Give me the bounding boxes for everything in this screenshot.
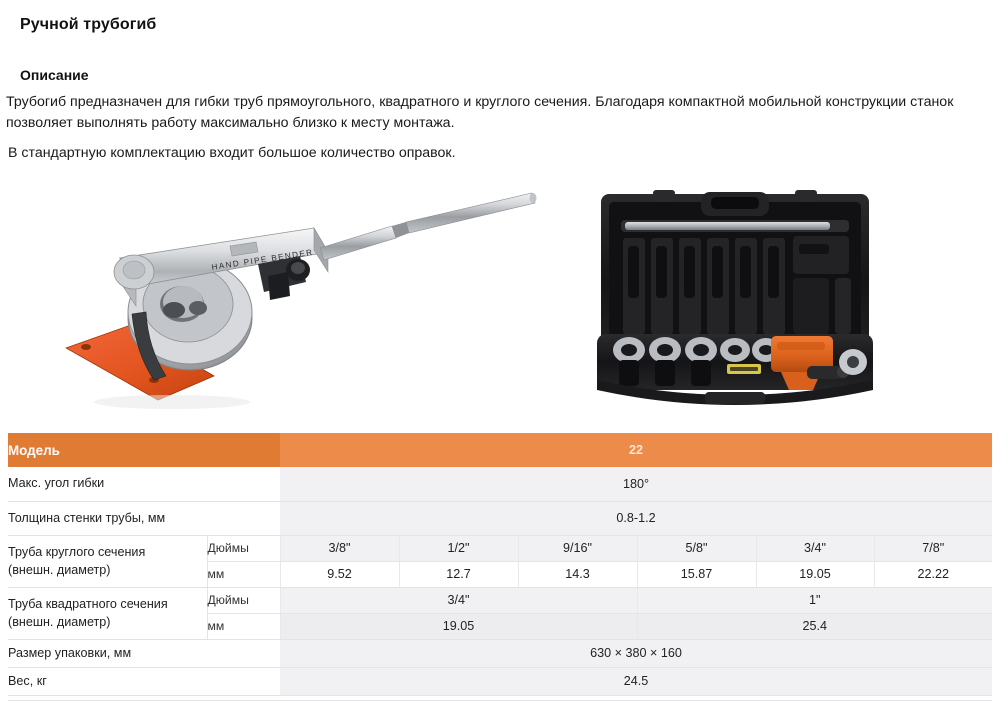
table-bottom-border <box>8 700 992 701</box>
round-mm-5: 19.05 <box>756 561 874 587</box>
table-header-row: Модель 22 <box>8 433 992 467</box>
description-paragraph-2: В стандартную комплектацию входит большо… <box>8 143 988 164</box>
table-row-square-pipe-inches: Труба квадратного сечения (внешн. диамет… <box>8 587 992 613</box>
round-inches-4: 5/8" <box>637 535 756 561</box>
square-inches-1: 3/4" <box>280 587 637 613</box>
square-mm-2: 25.4 <box>637 613 992 639</box>
unit-label-round-mm: мм <box>207 561 280 587</box>
round-inches-5: 3/4" <box>756 535 874 561</box>
table-row-max-bend-angle: Макс. угол гибки 180° <box>8 467 992 501</box>
table-row-package-size: Размер упаковки, мм 630 × 380 × 160 <box>8 639 992 667</box>
row-label-square-pipe: Труба квадратного сечения (внешн. диамет… <box>8 587 207 639</box>
round-mm-6: 22.22 <box>874 561 992 587</box>
row-label-package-size: Размер упаковки, мм <box>8 639 280 667</box>
row-label-round-pipe-line2: (внешн. диаметр) <box>8 561 207 579</box>
table-row-weight: Вес, кг 24.5 <box>8 667 992 695</box>
row-label-square-pipe-line1: Труба квадратного сечения <box>8 595 207 613</box>
table-row-round-pipe-inches: Труба круглого сечения (внешн. диаметр) … <box>8 535 992 561</box>
unit-label-round-inches: Дюймы <box>207 535 280 561</box>
row-label-max-bend-angle: Макс. угол гибки <box>8 467 280 501</box>
product-page: Ручной трубогиб Описание Трубогиб предна… <box>0 0 1000 709</box>
row-value-weight: 24.5 <box>280 667 992 695</box>
square-inches-2: 1" <box>637 587 992 613</box>
row-value-package-size: 630 × 380 × 160 <box>280 639 992 667</box>
hand-pipe-bender-photo: HAND PIPE BENDER <box>62 186 562 418</box>
row-label-weight: Вес, кг <box>8 667 280 695</box>
specifications-table: Модель 22 Макс. угол гибки 180° Толщина … <box>8 433 992 696</box>
unit-label-square-mm: мм <box>207 613 280 639</box>
round-mm-3: 14.3 <box>518 561 637 587</box>
page-title: Ручной трубогиб <box>20 16 156 34</box>
section-heading-description: Описание <box>20 67 89 83</box>
round-mm-1: 9.52 <box>280 561 399 587</box>
product-image-gallery: HAND PIPE BENDER <box>0 182 1000 422</box>
row-label-square-pipe-line2: (внешн. диаметр) <box>8 613 207 631</box>
row-label-round-pipe-line1: Труба круглого сечения <box>8 543 207 561</box>
round-inches-3: 9/16" <box>518 535 637 561</box>
row-value-wall-thickness: 0.8-1.2 <box>280 501 992 535</box>
round-inches-2: 1/2" <box>399 535 518 561</box>
description-paragraph-1: Трубогиб предназначен для гибки труб пря… <box>6 92 994 134</box>
row-value-max-bend-angle: 180° <box>280 467 992 501</box>
square-mm-1: 19.05 <box>280 613 637 639</box>
table-row-wall-thickness: Толщина стенки трубы, мм 0.8-1.2 <box>8 501 992 535</box>
row-label-wall-thickness: Толщина стенки трубы, мм <box>8 501 280 535</box>
table-header-label: Модель <box>8 433 280 467</box>
round-inches-1: 3/8" <box>280 535 399 561</box>
tool-case-photo <box>585 184 885 414</box>
round-mm-4: 15.87 <box>637 561 756 587</box>
round-mm-2: 12.7 <box>399 561 518 587</box>
round-inches-6: 7/8" <box>874 535 992 561</box>
table-header-model-value: 22 <box>280 433 992 467</box>
row-label-round-pipe: Труба круглого сечения (внешн. диаметр) <box>8 535 207 587</box>
unit-label-square-inches: Дюймы <box>207 587 280 613</box>
